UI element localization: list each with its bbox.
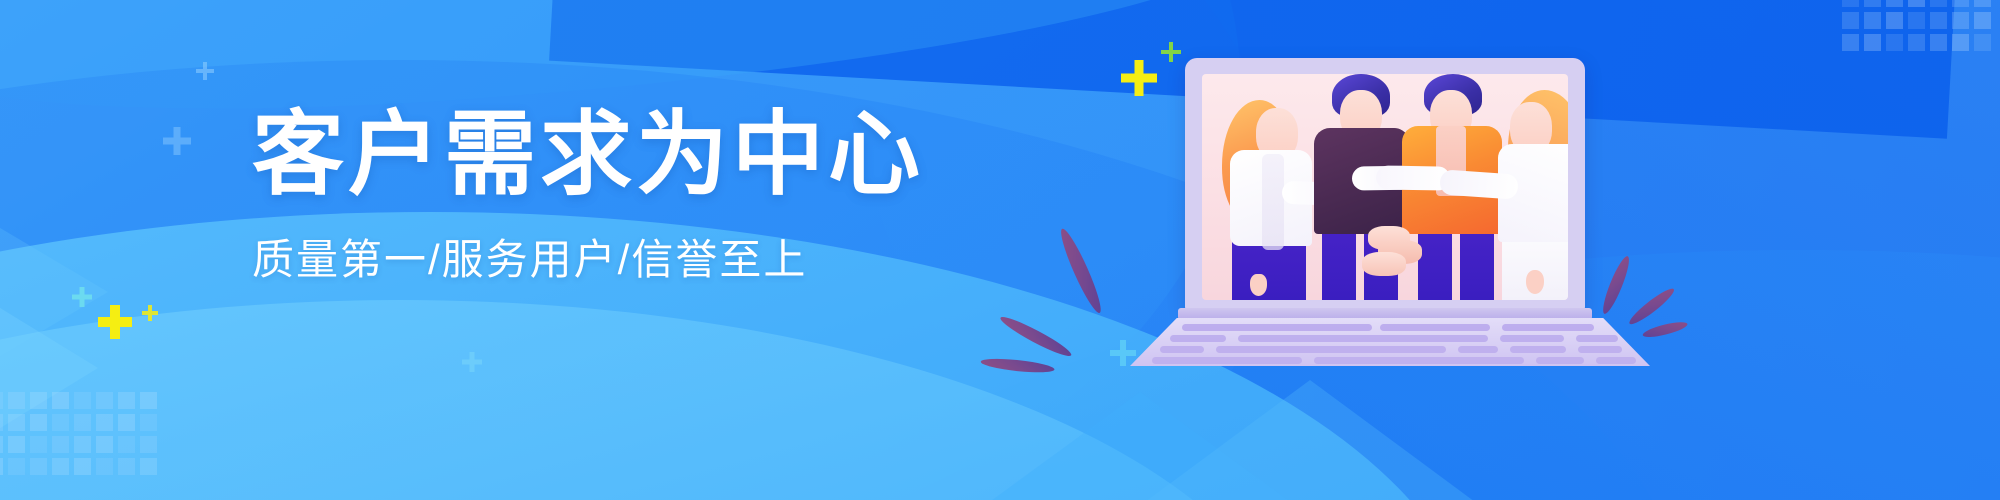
keyboard-key bbox=[1500, 335, 1564, 342]
plus-pale-upper-icon bbox=[196, 62, 214, 80]
grid-cell bbox=[1842, 12, 1859, 29]
laptop-base bbox=[1130, 308, 1650, 364]
keyboard-key bbox=[1578, 346, 1622, 353]
plus-yellow-small-right-icon bbox=[142, 305, 158, 321]
banner-copy: 客户需求为中心 质量第一/服务用户/信誉至上 bbox=[252, 108, 812, 287]
keyboard-key bbox=[1152, 357, 1302, 364]
plus-cyan-bottom-mid-icon bbox=[462, 352, 482, 372]
grid-cell bbox=[118, 414, 135, 431]
keyboard-key bbox=[1216, 346, 1446, 353]
leaf-left-1 bbox=[1056, 226, 1106, 316]
grid-cell bbox=[1930, 34, 1947, 51]
promo-banner: 客户需求为中心 质量第一/服务用户/信誉至上 bbox=[0, 0, 2000, 500]
grid-cell bbox=[1864, 12, 1881, 29]
grid-cell bbox=[96, 414, 113, 431]
grid-cell bbox=[118, 458, 135, 475]
grid-cell bbox=[74, 458, 91, 475]
keyboard-key bbox=[1380, 324, 1490, 331]
grid-cell bbox=[30, 458, 47, 475]
grid-cell bbox=[1886, 34, 1903, 51]
grid-cell bbox=[1952, 0, 1969, 7]
grid-cell bbox=[1864, 0, 1881, 7]
grid-cell bbox=[140, 392, 157, 409]
grid-cell bbox=[1952, 34, 1969, 51]
grid-cell bbox=[8, 458, 25, 475]
hand bbox=[1526, 270, 1544, 294]
keyboard-key bbox=[1170, 335, 1226, 342]
grid-cell bbox=[118, 392, 135, 409]
grid-cell bbox=[1974, 0, 1991, 7]
grid-cell bbox=[1908, 12, 1925, 29]
hand-stack-3 bbox=[1362, 252, 1406, 276]
laptop-keyboard-deck bbox=[1130, 318, 1650, 366]
keyboard-key bbox=[1238, 335, 1488, 342]
banner-headline: 客户需求为中心 bbox=[252, 108, 812, 204]
grid-cell bbox=[0, 458, 3, 475]
grid-cell bbox=[1908, 34, 1925, 51]
background-chevron-mid bbox=[0, 276, 98, 460]
leaf-left-3 bbox=[980, 356, 1055, 375]
background-ridge-right bbox=[1080, 380, 1540, 500]
keyboard-key bbox=[1510, 346, 1566, 353]
grid-cell bbox=[140, 414, 157, 431]
grid-cell bbox=[1842, 34, 1859, 51]
grid-cell bbox=[1930, 0, 1947, 7]
grid-cell bbox=[96, 458, 113, 475]
keyboard-key bbox=[1160, 346, 1204, 353]
leaf-right-2 bbox=[1626, 285, 1677, 328]
banner-subheadline: 质量第一/服务用户/信誉至上 bbox=[252, 226, 812, 287]
grid-cell bbox=[1930, 12, 1947, 29]
grid-cell bbox=[1864, 34, 1881, 51]
laptop-illustration bbox=[1130, 58, 1650, 358]
grid-cell bbox=[52, 458, 69, 475]
grid-cell bbox=[1952, 12, 1969, 29]
grid-cell bbox=[140, 436, 157, 453]
grid-cell bbox=[96, 436, 113, 453]
keyboard-key bbox=[1536, 357, 1584, 364]
grid-cell bbox=[96, 392, 113, 409]
shirt-fold bbox=[1262, 154, 1284, 250]
plus-pale-mid-icon bbox=[163, 127, 191, 155]
keyboard-key bbox=[1314, 357, 1524, 364]
keyboard-key bbox=[1596, 357, 1636, 364]
grid-cell bbox=[1974, 34, 1991, 51]
keyboard-key bbox=[1576, 335, 1618, 342]
grid-cell bbox=[1974, 12, 1991, 29]
leaf-left-2 bbox=[998, 312, 1074, 360]
grid-cell bbox=[1886, 0, 1903, 7]
leaf-right-1 bbox=[1599, 254, 1633, 316]
grid-cell bbox=[118, 436, 135, 453]
foot bbox=[1250, 274, 1267, 296]
grid-cell bbox=[1842, 0, 1859, 7]
grid-cell bbox=[1908, 0, 1925, 7]
keyboard-key bbox=[1182, 324, 1372, 331]
keyboard-key bbox=[1502, 324, 1594, 331]
arm bbox=[1376, 165, 1450, 190]
laptop-screen bbox=[1202, 74, 1568, 300]
person-woman-right bbox=[1488, 80, 1568, 300]
laptop-lid bbox=[1185, 58, 1585, 310]
arm bbox=[1439, 169, 1519, 199]
grid-cell bbox=[140, 458, 157, 475]
keyboard-key bbox=[1458, 346, 1498, 353]
grid-cell bbox=[1886, 12, 1903, 29]
